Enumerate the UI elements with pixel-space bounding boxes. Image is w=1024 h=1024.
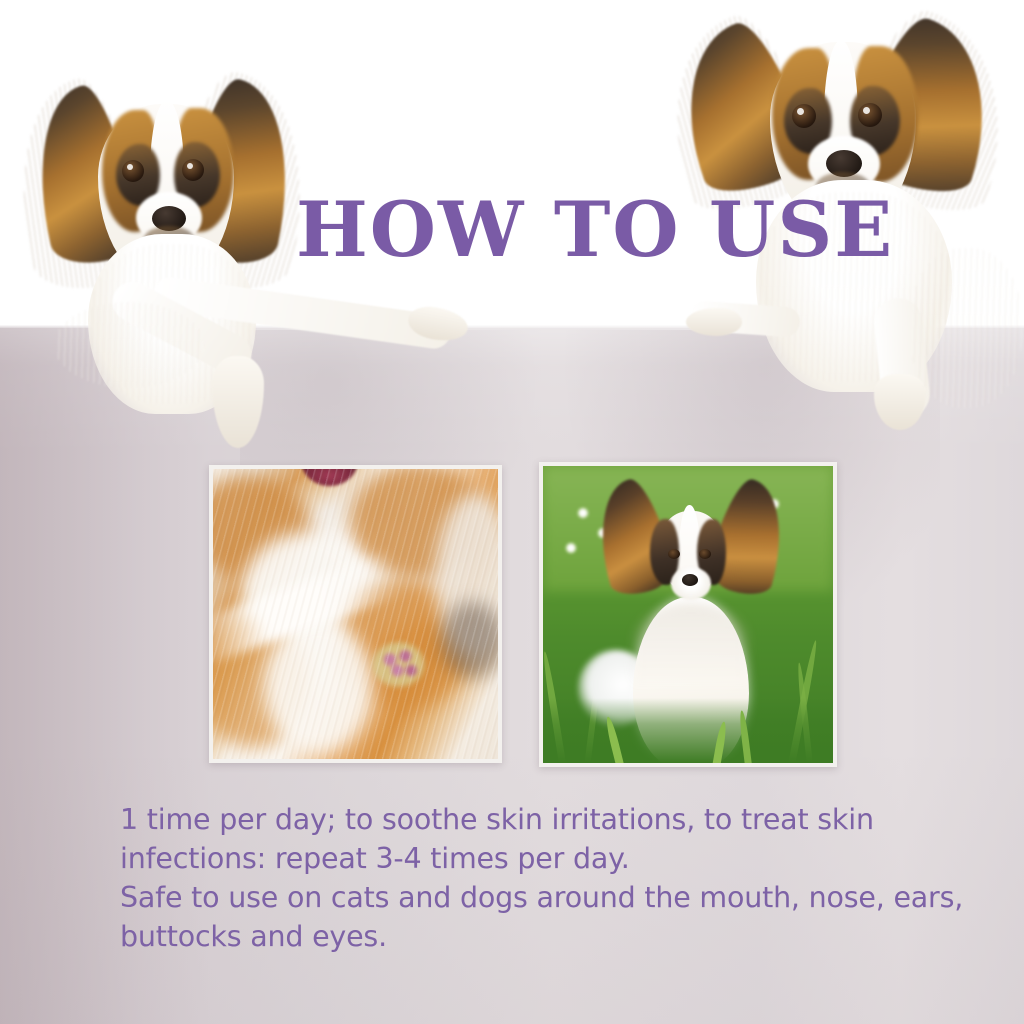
daisy-1 xyxy=(578,508,588,518)
right-dog-paw-right xyxy=(874,374,926,430)
fur-texture-overlay xyxy=(213,469,498,759)
papillon-chest-shading xyxy=(633,603,749,686)
right-dog-eye-left xyxy=(792,104,816,128)
instructions-line-1: 1 time per day; to soothe skin irritatio… xyxy=(120,800,1000,839)
grass-foreground xyxy=(543,698,833,763)
right-dog-eye-right xyxy=(858,103,882,127)
left-dog-paw-hanging xyxy=(212,356,264,448)
photo-papillon-grass-inner xyxy=(543,466,833,763)
left-dog-eye-right xyxy=(182,159,204,181)
instructions-text: 1 time per day; to soothe skin irritatio… xyxy=(120,800,1000,956)
right-dog-paw-left xyxy=(686,308,742,336)
photo-fur-closeup-inner xyxy=(213,469,498,759)
right-dog-side-fur xyxy=(910,248,1022,408)
left-dog-eye-left xyxy=(122,160,144,182)
right-dog-eye-glint-left xyxy=(797,108,804,115)
instructions-line-4: buttocks and eyes. xyxy=(120,917,1000,956)
instructions-line-2: infections: repeat 3-4 times per day. xyxy=(120,839,1000,878)
instructions-line-3: Safe to use on cats and dogs around the … xyxy=(120,878,1000,917)
right-dog-eye-glint-right xyxy=(863,107,870,114)
photo-papillon-grass xyxy=(539,462,837,767)
photo-fur-closeup xyxy=(209,465,502,763)
left-dog-shoulder-fur xyxy=(54,302,204,388)
left-dog-eye-glint-left xyxy=(127,164,133,170)
left-dog-eye-glint-right xyxy=(187,163,193,169)
poster-root: HOW TO USE xyxy=(0,0,1024,1024)
page-title: HOW TO USE xyxy=(296,192,894,268)
